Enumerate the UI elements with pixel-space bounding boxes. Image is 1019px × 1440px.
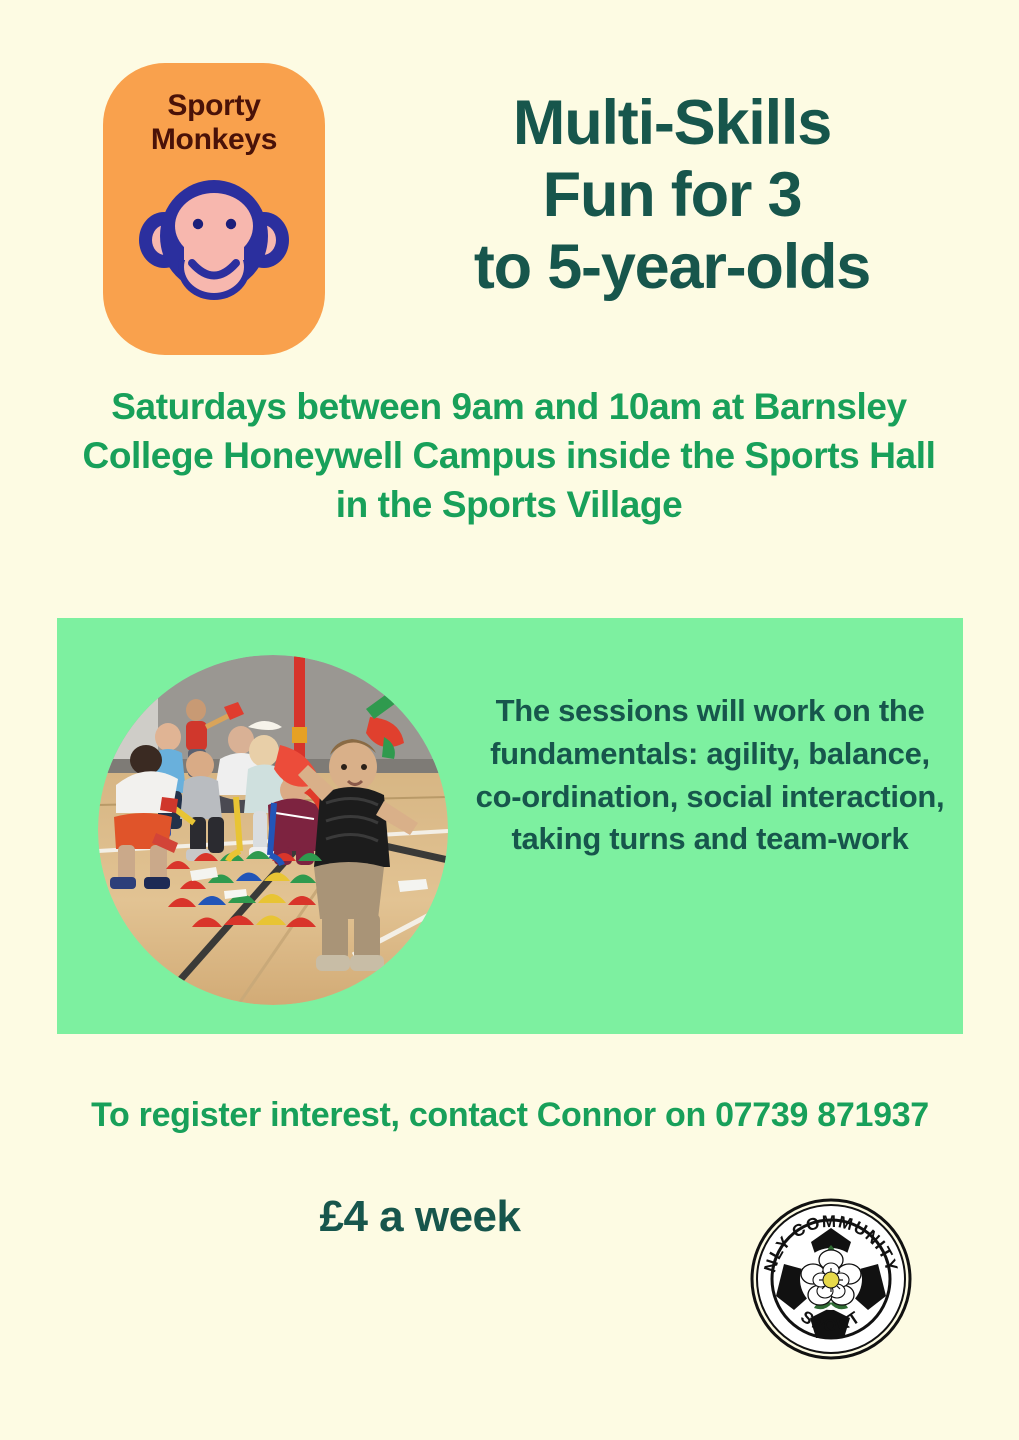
session-description-text: The sessions will work on the fundamenta…	[475, 690, 945, 861]
brand-badge: Sporty Monkeys	[103, 63, 325, 355]
monkey-face-icon	[138, 168, 290, 318]
title-line-3: to 5-year-olds	[352, 232, 992, 304]
price-text: £4 a week	[160, 1192, 680, 1242]
brand-name-line2: Monkeys	[151, 123, 277, 157]
contact-text: To register interest, contact Connor on …	[70, 1092, 950, 1138]
brand-name-line1: Sporty	[151, 89, 277, 123]
info-panel: The sessions will work on the fundamenta…	[57, 618, 963, 1034]
title-line-1: Multi-Skills	[352, 88, 992, 160]
session-details-text: Saturdays between 9am and 10am at Barnsl…	[78, 382, 940, 530]
page-title: Multi-Skills Fun for 3 to 5-year-olds	[352, 88, 992, 303]
brand-name: Sporty Monkeys	[151, 89, 277, 156]
poster-canvas: Sporty Monkeys	[0, 0, 1019, 1440]
title-line-2: Fun for 3	[352, 160, 992, 232]
children-sports-hall-photo	[98, 655, 448, 1005]
nly-community-sport-badge-icon: NLY COMMUNITY SPORT	[750, 1198, 912, 1360]
